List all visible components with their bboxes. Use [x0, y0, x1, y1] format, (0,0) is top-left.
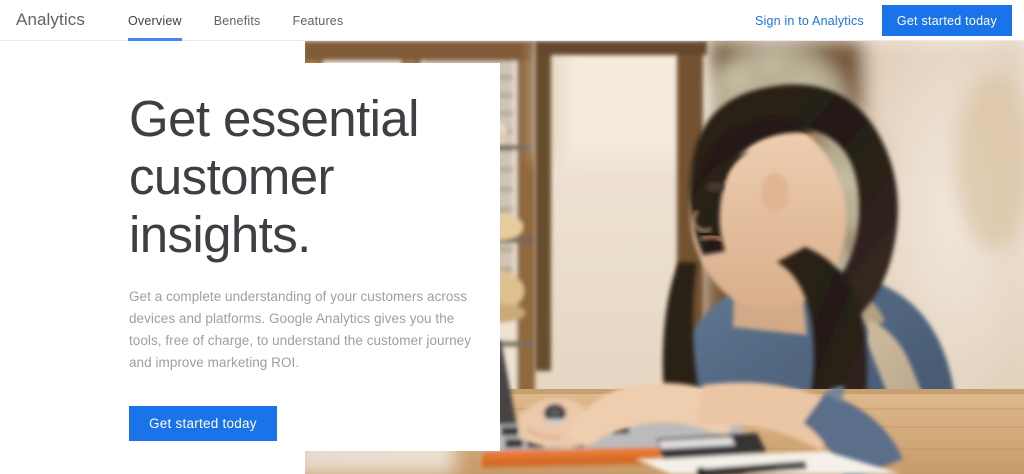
- tab-overview-label: Overview: [128, 14, 182, 28]
- site-header: Analytics Overview Benefits Features Sig…: [0, 0, 1024, 41]
- landing-page: Analytics Overview Benefits Features Sig…: [0, 0, 1024, 474]
- hero-description: Get a complete understanding of your cus…: [129, 286, 479, 374]
- hero-title: Get essential customer insights.: [129, 90, 489, 264]
- hero-card: Get essential customer insights. Get a c…: [0, 63, 500, 451]
- primary-nav: Overview Benefits Features: [128, 0, 359, 41]
- tab-features-label: Features: [292, 14, 343, 28]
- tab-benefits-label: Benefits: [214, 14, 261, 28]
- tab-features[interactable]: Features: [276, 0, 359, 41]
- header-actions: Sign in to Analytics Get started today: [755, 0, 1012, 41]
- brand-logo[interactable]: Analytics: [16, 10, 85, 30]
- hero-get-started-button[interactable]: Get started today: [129, 406, 277, 441]
- sign-in-link[interactable]: Sign in to Analytics: [755, 14, 864, 28]
- tab-overview[interactable]: Overview: [128, 0, 198, 41]
- tab-benefits[interactable]: Benefits: [198, 0, 277, 41]
- header-get-started-button[interactable]: Get started today: [882, 5, 1012, 36]
